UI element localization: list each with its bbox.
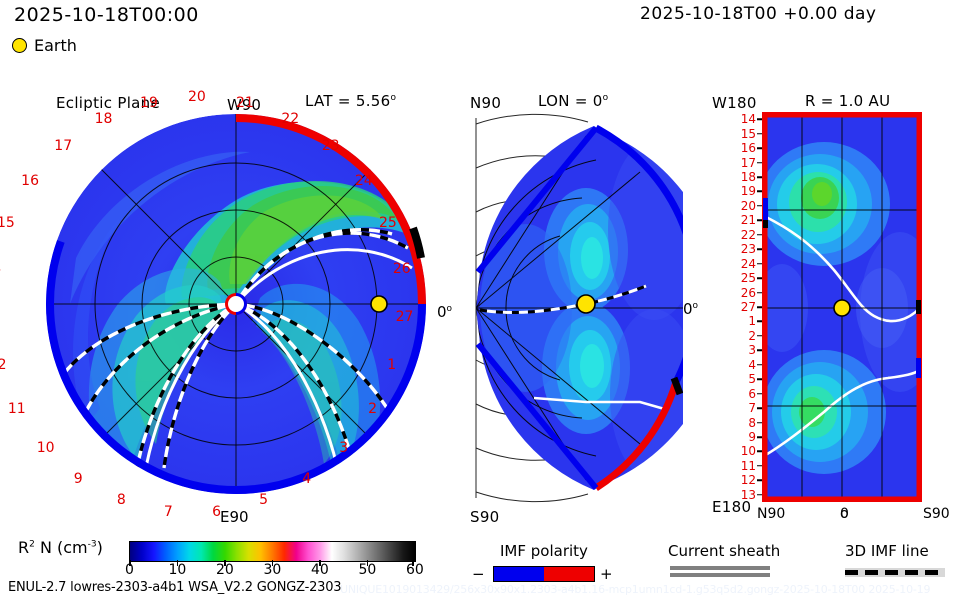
panel1-rim-label-6: 6 — [212, 505, 221, 519]
panel3-y-axis-labels: 1415161718192021222324252627123456789101… — [718, 110, 762, 504]
panel3-y-label-10: 10 — [741, 445, 756, 457]
panel1-rim-label-18: 18 — [95, 112, 113, 126]
earth-marker-panel3 — [834, 300, 850, 316]
panel3-y-label-12: 12 — [741, 474, 756, 486]
panel1-rim-label-16: 16 — [21, 174, 39, 188]
panel1-rim-label-9: 9 — [74, 472, 83, 486]
panel3-y-label-8: 8 — [748, 417, 756, 429]
earth-legend: Earth — [12, 36, 77, 55]
panel3-y-label-24: 24 — [741, 258, 756, 270]
panel3-y-label-16: 16 — [741, 142, 756, 154]
panel1-rim-label-17: 17 — [54, 139, 72, 153]
colorbar-tick-labels: 0102030405060 — [115, 562, 435, 580]
panel2-lon-label: LON = 0o — [538, 92, 608, 110]
panel3-y-label-21: 21 — [741, 214, 756, 226]
panel1-rim-label-2: 2 — [368, 402, 377, 416]
panel1-zero-value: 0 — [437, 303, 447, 321]
panel3-y-label-3: 3 — [748, 344, 756, 356]
panel1-zero-label: 0o — [437, 303, 452, 321]
panel1-rim-label-21: 21 — [236, 96, 254, 110]
header-datetime: 2025-10-18T00:00 — [14, 4, 199, 26]
panel2-zero-unit: o — [693, 301, 699, 311]
legend-current-sheath-title: Current sheath — [668, 542, 780, 560]
colorbar-tick-50: 50 — [359, 562, 377, 578]
panel3-y-label-22: 22 — [741, 229, 756, 241]
panel3-y-label-26: 26 — [741, 287, 756, 299]
panel1-rim-label-10: 10 — [37, 441, 55, 455]
legend-imf-plus: + — [600, 565, 613, 583]
legend-current-sheath-swatch — [670, 566, 770, 580]
legend-3d-imf-swatch — [845, 568, 945, 577]
panel1-rim-label-15: 15 — [0, 216, 15, 230]
legend-imf-negative-swatch — [494, 567, 544, 581]
panel3-y-label-2: 2 — [748, 330, 756, 342]
panel1-zero-unit: o — [447, 304, 453, 314]
panel3-y-label-1: 1 — [748, 315, 756, 327]
panel2-s90-label: S90 — [470, 508, 500, 526]
panel3-y-label-13: 13 — [741, 489, 756, 501]
panel1-rim-label-24: 24 — [355, 174, 373, 188]
panel1-rim-label-22: 22 — [281, 112, 299, 126]
panel3-svg — [762, 112, 922, 502]
panel1-rim-labels: 2021222324252627123456789101112131415161… — [38, 98, 438, 518]
panel3-y-label-25: 25 — [741, 272, 756, 284]
footer-watermark: UNIQUE1019013429/256x30x90x1.2303-a4b1.1… — [340, 583, 930, 596]
panel3-y-label-14: 14 — [741, 113, 756, 125]
colorbar-title-close: ) — [97, 538, 103, 557]
legend-imf-positive-swatch — [544, 567, 594, 581]
panel1-rim-label-26: 26 — [393, 262, 411, 276]
colorbar-tick-10: 10 — [169, 562, 187, 578]
legend-3d-imf-line-title: 3D IMF line — [845, 542, 929, 560]
colorbar-tick-30: 30 — [264, 562, 282, 578]
earth-marker-panel2 — [577, 295, 595, 313]
colorbar-tick-40: 40 — [311, 562, 329, 578]
panel1-rim-label-23: 23 — [322, 139, 340, 153]
panel3-y-label-23: 23 — [741, 243, 756, 255]
panel3-x-label-S90: S90 — [923, 506, 950, 522]
panel3-x-label-N90: N90 — [757, 506, 785, 522]
panel3-y-label-19: 19 — [741, 185, 756, 197]
panel1-rim-label-19: 19 — [140, 96, 158, 110]
earth-legend-label: Earth — [34, 36, 77, 55]
colorbar-title-r: R — [18, 538, 29, 557]
panel3-y-label-17: 17 — [741, 157, 756, 169]
legend-imf-polarity-title: IMF polarity — [500, 542, 588, 560]
panel1-rim-label-3: 3 — [339, 441, 348, 455]
panel3-y-label-18: 18 — [741, 171, 756, 183]
panel1-rim-label-4: 4 — [302, 472, 311, 486]
panel3-y-label-15: 15 — [741, 128, 756, 140]
earth-marker-icon — [12, 38, 27, 53]
panel1-rim-label-5: 5 — [259, 493, 268, 507]
panel3-cylindrical-plot[interactable] — [762, 112, 922, 502]
header-epoch-label: 2025-10-18T00 +0.00 day — [640, 4, 876, 24]
panel1-rim-label-14: 14 — [0, 262, 1, 276]
colorbar-title: R2 N (cm-3) — [18, 538, 103, 557]
legend-imf-bar — [493, 566, 595, 582]
panel3-y-label-5: 5 — [748, 373, 756, 385]
colorbar-tick-0: 0 — [125, 562, 134, 578]
colorbar-gradient[interactable] — [129, 541, 416, 562]
panel1-rim-label-7: 7 — [164, 505, 173, 519]
panel2-lon-unit: o — [603, 93, 609, 103]
colorbar-tick-20: 20 — [216, 562, 234, 578]
panel1-rim-label-8: 8 — [117, 493, 126, 507]
panel3-title: R = 1.0 AU — [805, 92, 890, 110]
panel3-y-label-11: 11 — [741, 460, 756, 472]
panel2-svg — [468, 110, 683, 505]
colorbar-tick-60: 60 — [406, 562, 424, 578]
panel3-y-label-4: 4 — [748, 359, 756, 371]
panel1-rim-label-11: 11 — [8, 402, 26, 416]
panel1-rim-label-25: 25 — [379, 216, 397, 230]
panel3-y-label-20: 20 — [741, 200, 756, 212]
colorbar-title-unit: N (cm — [35, 538, 88, 557]
panel2-lon-value: LON = 0 — [538, 92, 603, 110]
colorbar-title-unit-exp: -3 — [88, 540, 97, 550]
panel1-rim-label-12: 12 — [0, 358, 7, 372]
panel1-rim-label-27: 27 — [396, 310, 414, 324]
panel3-y-label-27: 27 — [741, 301, 756, 313]
panel3-x-axis-labels: N900oS90 — [745, 506, 945, 526]
panel2-zero-label: 0o — [683, 300, 698, 318]
legend-imf-minus: − — [472, 565, 485, 583]
panel3-y-label-7: 7 — [748, 402, 756, 414]
panel3-y-label-6: 6 — [748, 388, 756, 400]
footer-run-tag: ENUL-2.7 lowres-2303-a4b1 WSA_V2.2 GONGZ… — [8, 580, 341, 595]
panel2-zero-value: 0 — [683, 300, 693, 318]
panel2-meridional-plot[interactable] — [468, 110, 683, 505]
panel1-rim-label-1: 1 — [387, 358, 396, 372]
panel1-rim-label-20: 20 — [188, 90, 206, 104]
panel3-y-label-9: 9 — [748, 431, 756, 443]
